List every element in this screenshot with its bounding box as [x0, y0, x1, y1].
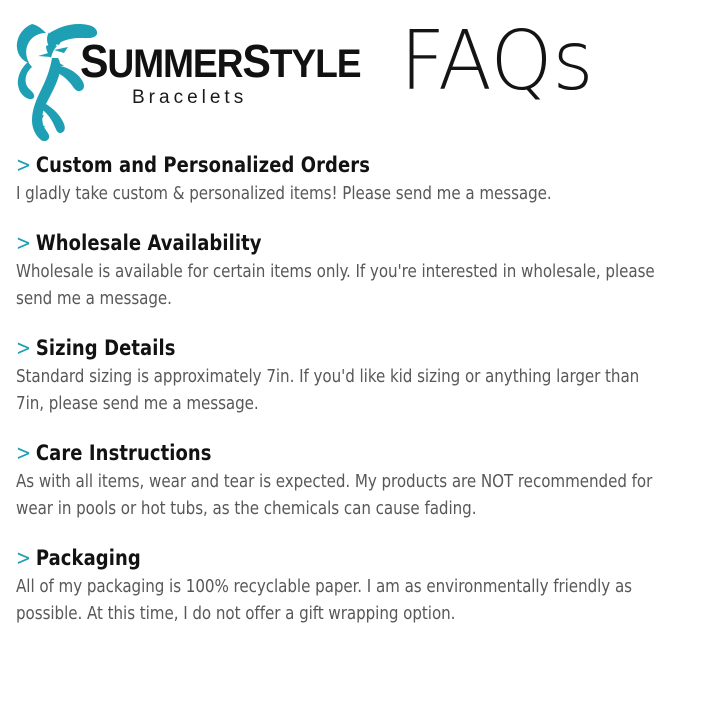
chevron-right-icon: >: [16, 335, 31, 361]
faq-list: >Custom and Personalized Orders I gladly…: [16, 152, 704, 628]
faq-heading: >Wholesale Availability: [16, 230, 670, 256]
chevron-right-icon: >: [16, 440, 31, 466]
faq-item-wholesale-availability: >Wholesale Availability Wholesale is ava…: [16, 230, 704, 313]
page-header: SUMMERSTYLE Bracelets FAQs: [0, 0, 720, 150]
brand-subtitle: Bracelets: [132, 87, 310, 109]
faq-answer: All of my packaging is 100% recyclable p…: [16, 574, 665, 628]
faq-item-sizing-details: >Sizing Details Standard sizing is appro…: [16, 335, 704, 418]
faq-page: SUMMERSTYLE Bracelets FAQs >Custom and P…: [0, 0, 720, 720]
brand-name-tyle: TYLE: [270, 42, 361, 86]
brand-wordmark: SUMMERSTYLE Bracelets: [80, 40, 310, 109]
brand-name-s1: S: [80, 35, 107, 87]
faq-item-custom-and-personalized-orders: >Custom and Personalized Orders I gladly…: [16, 152, 704, 208]
faq-heading-label: Sizing Details: [36, 336, 176, 360]
brand-name-ummer: UMMER: [107, 42, 242, 86]
brand-name-s2: S: [242, 35, 269, 87]
faq-answer: Standard sizing is approximately 7in. If…: [16, 364, 665, 418]
faq-heading: >Custom and Personalized Orders: [16, 152, 670, 178]
faq-heading-label: Wholesale Availability: [36, 231, 262, 255]
faq-answer: I gladly take custom & personalized item…: [16, 181, 665, 208]
faq-heading: >Sizing Details: [16, 335, 670, 361]
chevron-right-icon: >: [16, 230, 31, 256]
faq-heading: >Packaging: [16, 545, 670, 571]
chevron-right-icon: >: [16, 152, 31, 178]
brand-logo: SUMMERSTYLE Bracelets: [8, 10, 308, 145]
page-title: FAQs: [400, 16, 594, 108]
faq-item-care-instructions: >Care Instructions As with all items, we…: [16, 440, 704, 523]
faq-heading-label: Care Instructions: [36, 441, 212, 465]
faq-heading-label: Packaging: [36, 546, 141, 570]
faq-heading: >Care Instructions: [16, 440, 670, 466]
chevron-right-icon: >: [16, 545, 31, 571]
brand-name: SUMMERSTYLE: [80, 40, 294, 85]
faq-heading-label: Custom and Personalized Orders: [36, 153, 370, 177]
faq-answer: Wholesale is available for certain items…: [16, 259, 665, 313]
faq-item-packaging: >Packaging All of my packaging is 100% r…: [16, 545, 704, 628]
faq-answer: As with all items, wear and tear is expe…: [16, 469, 665, 523]
